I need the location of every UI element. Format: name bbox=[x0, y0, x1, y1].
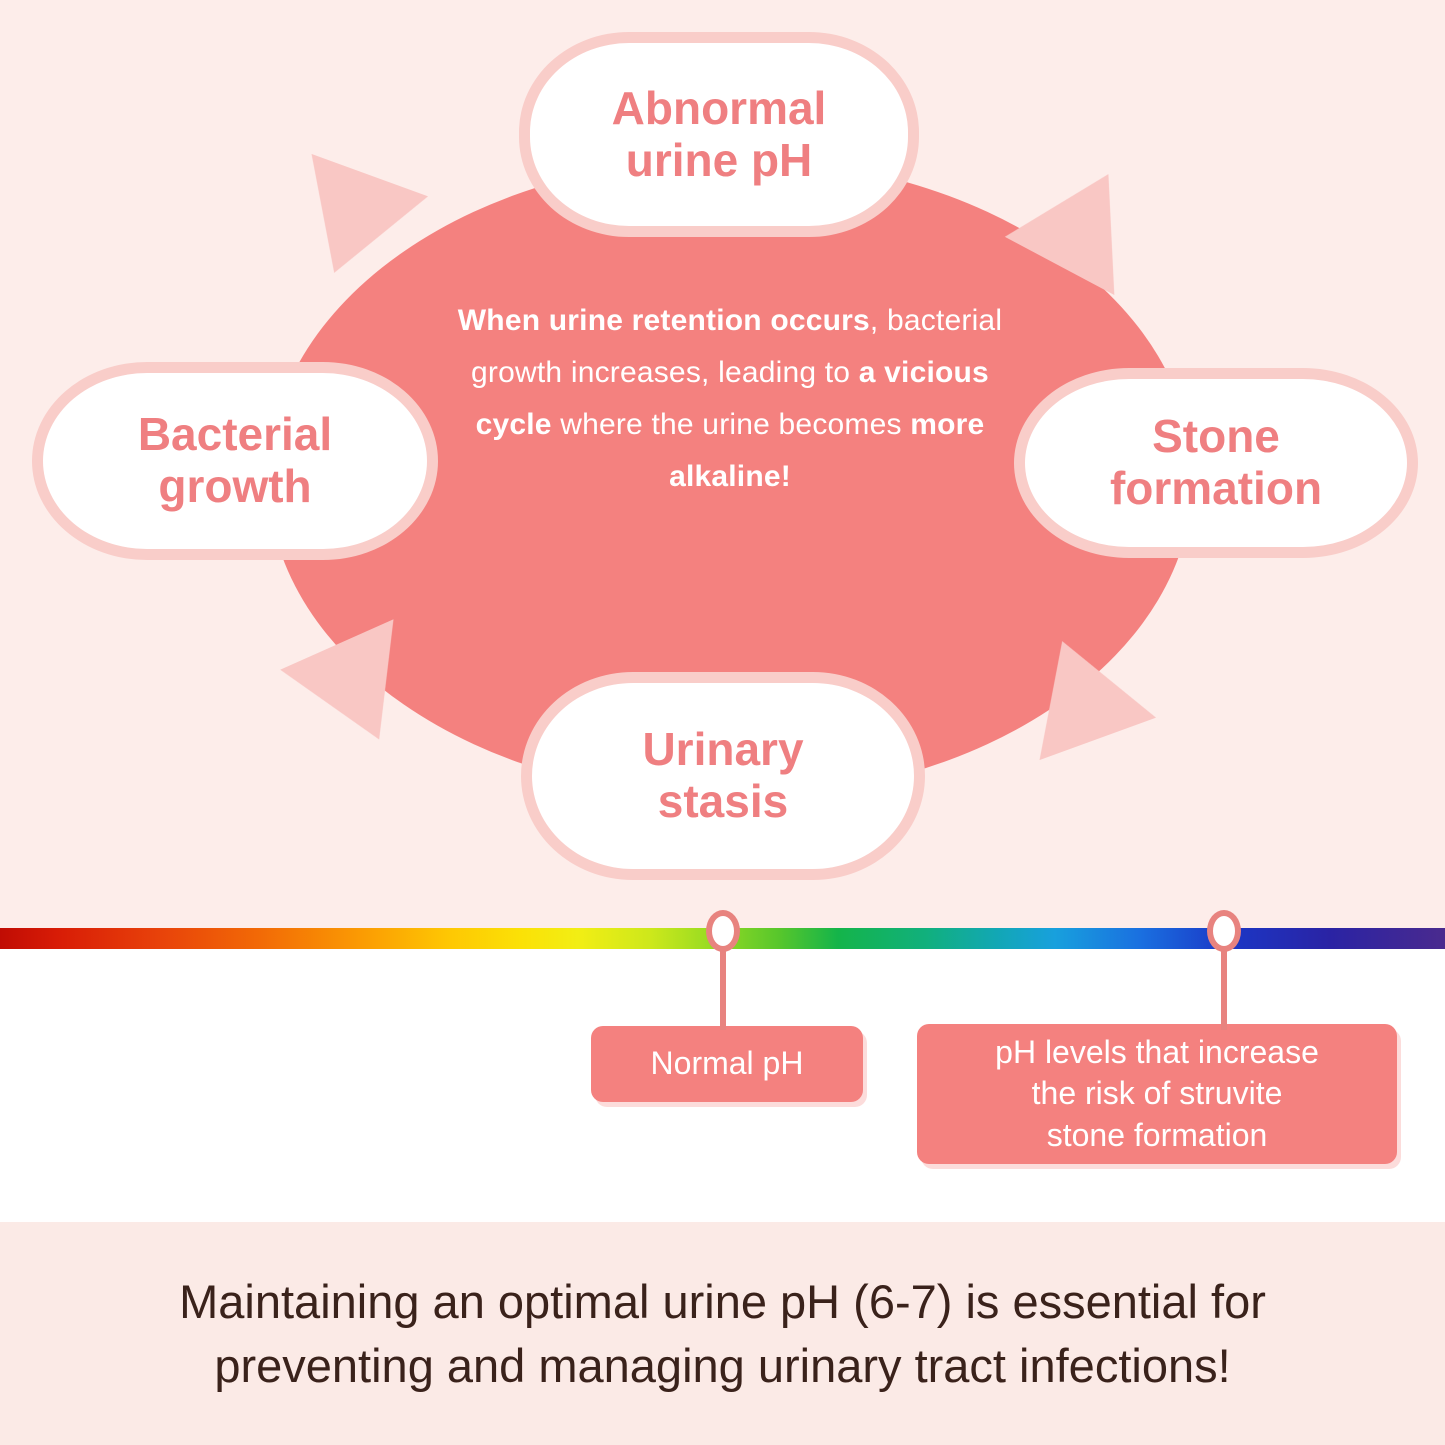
ph-label-normal[interactable]: Normal pH bbox=[591, 1026, 863, 1102]
caption-line-1: Maintaining an optimal urine pH (6-7) is… bbox=[179, 1275, 1266, 1328]
ph-label-struvite-risk[interactable]: pH levels that increasethe risk of struv… bbox=[917, 1024, 1397, 1164]
caption-line-2: preventing and managing urinary tract in… bbox=[214, 1339, 1230, 1392]
ph-marker-knob-icon[interactable] bbox=[706, 910, 740, 952]
ph-marker-stem bbox=[1221, 944, 1227, 1030]
bottom-caption-text: Maintaining an optimal urine pH (6-7) is… bbox=[68, 1270, 1378, 1397]
ph-label-risk-text: pH levels that increasethe risk of struv… bbox=[995, 1032, 1319, 1157]
infographic-root: When urine retention occurs, bacterial g… bbox=[0, 0, 1445, 1445]
bottom-caption: Maintaining an optimal urine pH (6-7) is… bbox=[0, 1222, 1445, 1445]
ph-marker-stem bbox=[720, 944, 726, 1030]
ph-label-normal-text: Normal pH bbox=[651, 1043, 804, 1085]
ph-marker-knob-icon[interactable] bbox=[1207, 910, 1241, 952]
